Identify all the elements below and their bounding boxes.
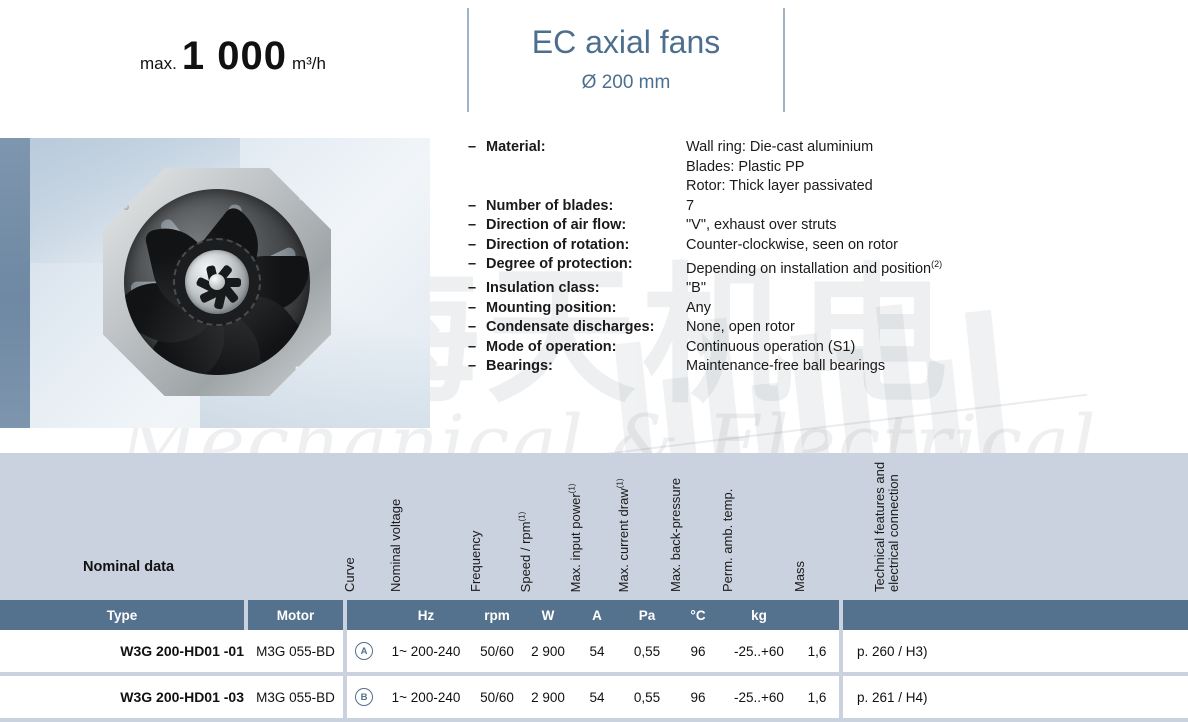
- table-cell-curve: B: [347, 676, 381, 718]
- table-rotated-header: Nominal voltage: [389, 499, 403, 592]
- table-rotated-header: Frequency: [469, 531, 483, 592]
- max-airflow-unit: m³/h: [292, 54, 326, 73]
- spec-row: –Insulation class:"B": [468, 279, 1168, 299]
- spec-bullet-dash: –: [468, 216, 486, 236]
- curve-badge-icon: B: [355, 688, 373, 706]
- spec-row: –Mode of operation:Continuous operation …: [468, 338, 1168, 358]
- spec-row: –Direction of rotation:Counter-clockwise…: [468, 236, 1168, 256]
- table-cell-hz: 50/60: [471, 676, 523, 718]
- spec-value: Maintenance-free ball bearings: [686, 357, 1168, 377]
- page-header: max.1 000m³/h EC axial fans Ø 200 mm: [0, 0, 1188, 130]
- table-header-a: Pa: [621, 600, 673, 630]
- spec-bullet-dash: –: [468, 299, 486, 319]
- table-rotated-header: Mass: [793, 561, 807, 592]
- header-footnote-marker: (1): [616, 478, 625, 488]
- product-photo: [0, 138, 430, 428]
- table-cell-type: W3G 200-HD01 -03: [0, 676, 272, 718]
- table-unit-header-row: TypeMotorHzrpmWAPa°Ckg: [0, 600, 1188, 630]
- spec-bullet-dash: –: [468, 357, 486, 377]
- max-airflow-prefix: max.: [140, 54, 177, 73]
- spec-row: –Direction of air flow:"V", exhaust over…: [468, 216, 1168, 236]
- spec-row: Rotor: Thick layer passivated: [468, 177, 1168, 197]
- spec-bullet-dash: –: [468, 279, 486, 299]
- table-cell-kg: 1,6: [795, 630, 839, 672]
- table-header-tech: [843, 600, 1188, 630]
- table-cell-hz: 50/60: [471, 630, 523, 672]
- table-cell-type: W3G 200-HD01 -01: [0, 630, 272, 672]
- spec-row: –Number of blades:7: [468, 197, 1168, 217]
- table-cell-motor: M3G 055-BD: [248, 676, 343, 718]
- spec-value: Rotor: Thick layer passivated: [686, 177, 1168, 197]
- table-cell-tech: p. 261 / H4): [843, 676, 1188, 718]
- table-body: W3G 200-HD01 -01M3G 055-BDA1~ 200-24050/…: [0, 630, 1188, 718]
- table-rotated-header: Perm. amb. temp.: [721, 489, 735, 592]
- table-rotated-header: Max. input power(1): [566, 483, 583, 592]
- spec-row: –Degree of protection:Depending on insta…: [468, 255, 1168, 279]
- table-cell-vac: 1~ 200-240: [381, 630, 471, 672]
- spec-label: Direction of rotation:: [486, 236, 686, 256]
- table-row[interactable]: W3G 200-HD01 -03M3G 055-BDB1~ 200-24050/…: [0, 676, 1188, 718]
- nominal-data-table: Nominal data CurveNominal voltageFrequen…: [0, 453, 1188, 722]
- mounting-screw: [127, 364, 133, 370]
- spec-bullet-dash: –: [468, 338, 486, 358]
- spec-value: Wall ring: Die-cast aluminium: [686, 138, 1168, 158]
- spec-label: Number of blades:: [486, 197, 686, 217]
- table-header-type: Type: [0, 600, 244, 630]
- fan-hub: [185, 250, 249, 314]
- spec-bullet-dash: –: [468, 255, 486, 275]
- fan-hub-center: [209, 274, 225, 290]
- page-title: EC axial fans: [470, 25, 782, 60]
- spec-label: Degree of protection:: [486, 255, 686, 275]
- spec-value: Depending on installation and position(2…: [686, 255, 1168, 279]
- spec-value: Counter-clockwise, seen on rotor: [686, 236, 1168, 256]
- table-header-kg: [795, 600, 839, 630]
- header-divider-right: [783, 8, 785, 112]
- table-cell-tech: p. 260 / H3): [843, 630, 1188, 672]
- table-cell-temp: -25..+60: [723, 630, 795, 672]
- spec-value: Continuous operation (S1): [686, 338, 1168, 358]
- spec-value: Any: [686, 299, 1168, 319]
- table-rotated-header: Max. current draw(1): [614, 478, 631, 592]
- table-rotated-header: Speed / rpm(1): [516, 511, 533, 592]
- table-header-vac: Hz: [381, 600, 471, 630]
- specification-list: –Material:Wall ring: Die-cast aluminiumB…: [468, 138, 1168, 377]
- spec-value: "V", exhaust over struts: [686, 216, 1168, 236]
- table-row[interactable]: W3G 200-HD01 -01M3G 055-BDA1~ 200-24050/…: [0, 630, 1188, 672]
- fan-wall-ring: [103, 168, 331, 396]
- header-divider-left: [467, 8, 469, 112]
- table-rotated-header-row: Nominal data CurveNominal voltageFrequen…: [0, 453, 1188, 600]
- table-rotated-header: Curve: [343, 557, 357, 592]
- table-rotated-header: Max. back-pressure: [669, 478, 683, 592]
- spec-row: –Material:Wall ring: Die-cast aluminium: [468, 138, 1168, 158]
- table-cell-motor: M3G 055-BD: [248, 630, 343, 672]
- table-header-temp: kg: [723, 600, 795, 630]
- table-cell-vac: 1~ 200-240: [381, 676, 471, 718]
- table-cell-w: 54: [573, 630, 621, 672]
- spec-row: Blades: Plastic PP: [468, 158, 1168, 178]
- table-section-title: Nominal data: [83, 559, 174, 575]
- table-cell-w: 54: [573, 676, 621, 718]
- spec-label: Insulation class:: [486, 279, 686, 299]
- spec-label: Condensate discharges:: [486, 318, 686, 338]
- spec-row: –Bearings:Maintenance-free ball bearings: [468, 357, 1168, 377]
- spec-label: Bearings:: [486, 357, 686, 377]
- spec-value: "B": [686, 279, 1168, 299]
- max-airflow-spec: max.1 000m³/h: [140, 34, 326, 79]
- max-airflow-value: 1 000: [182, 34, 287, 78]
- mounting-screw: [123, 204, 129, 210]
- spec-bullet-dash: –: [468, 197, 486, 217]
- spec-label: Mounting position:: [486, 299, 686, 319]
- header-footnote-marker: (1): [518, 511, 527, 521]
- spec-bullet-dash: –: [468, 236, 486, 256]
- table-cell-rpm: 2 900: [523, 676, 573, 718]
- table-header-w: A: [573, 600, 621, 630]
- table-bottom-edge: [0, 718, 1188, 722]
- spec-label: Material:: [486, 138, 686, 158]
- axial-fan-illustration: [95, 160, 340, 405]
- table-header-motor: Motor: [248, 600, 343, 630]
- curve-badge-icon: A: [355, 642, 373, 660]
- header-footnote-marker: (1): [568, 483, 577, 493]
- table-cell-a: 0,55: [621, 630, 673, 672]
- spec-value: Blades: Plastic PP: [686, 158, 1168, 178]
- spec-label: Direction of air flow:: [486, 216, 686, 236]
- table-cell-kg: 1,6: [795, 676, 839, 718]
- table-cell-a: 0,55: [621, 676, 673, 718]
- spec-value: 7: [686, 197, 1168, 217]
- table-rotated-header: Technical features and electrical connec…: [873, 460, 901, 592]
- spec-footnote-marker: (2): [931, 259, 942, 269]
- table-header-hz: rpm: [471, 600, 523, 630]
- spec-row: –Condensate discharges:None, open rotor: [468, 318, 1168, 338]
- table-header-rpm: W: [523, 600, 573, 630]
- table-cell-curve: A: [347, 630, 381, 672]
- table-cell-pa: 96: [673, 676, 723, 718]
- mounting-screw: [295, 366, 301, 372]
- photo-left-bar: [0, 138, 30, 428]
- spec-bullet-dash: –: [468, 138, 486, 158]
- spec-row: –Mounting position:Any: [468, 299, 1168, 319]
- page-subtitle: Ø 200 mm: [470, 72, 782, 94]
- table-cell-temp: -25..+60: [723, 676, 795, 718]
- spec-label: Mode of operation:: [486, 338, 686, 358]
- table-cell-pa: 96: [673, 630, 723, 672]
- table-cell-rpm: 2 900: [523, 630, 573, 672]
- spec-value: None, open rotor: [686, 318, 1168, 338]
- mounting-screw: [299, 196, 305, 202]
- product-title-block: EC axial fans Ø 200 mm: [470, 25, 782, 94]
- table-header-pa: °C: [673, 600, 723, 630]
- fan-rotor-area: [124, 189, 310, 375]
- spec-bullet-dash: –: [468, 318, 486, 338]
